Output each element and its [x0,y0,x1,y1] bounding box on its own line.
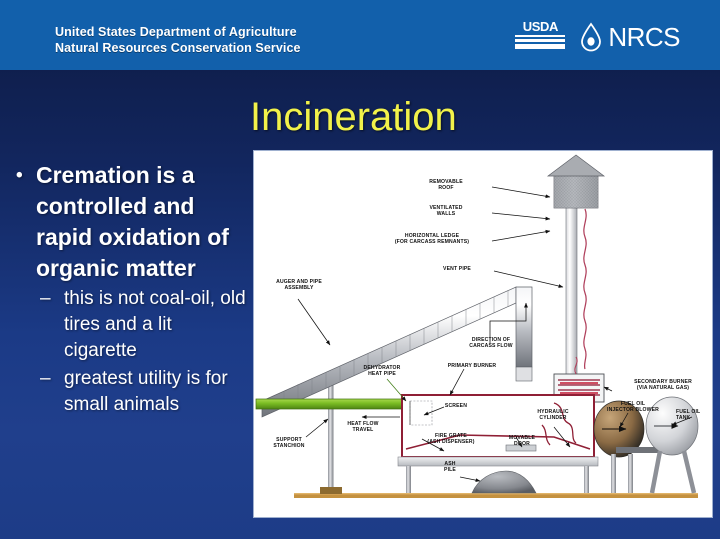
label-removable-roof: REMOVABLE ROOF [400,179,492,192]
usda-logo-icon: USDA [513,20,567,54]
nrcs-logo: NRCS [579,22,680,52]
usda-wordmark: USDA [513,20,567,33]
vent-pipe-stack [548,155,604,375]
agency-line-1: United States Department of Agriculture [55,24,301,40]
presentation-slide: United States Department of Agriculture … [0,0,720,539]
label-primary-burner: PRIMARY BURNER [430,363,514,369]
usda-logo-rules [515,35,565,51]
logo-block: USDA NRCS [513,20,680,54]
label-heat-flow-travel: HEAT FLOW TRAVEL [332,421,394,434]
bullet-list: • Cremation is a controlled and rapid ox… [8,160,246,418]
agency-name: United States Department of Agriculture … [55,24,301,56]
agency-line-2: Natural Resources Conservation Service [55,40,301,56]
label-ventilated-walls: VENTILATED WALLS [400,205,492,218]
bullet-marker-dash: – [40,286,51,312]
bullet-text: greatest utility is for small animals [64,368,228,415]
incinerator-diagram-panel: REMOVABLE ROOF VENTILATED WALLS HORIZONT… [253,150,713,518]
support-stanchion-post [328,375,334,493]
label-fuel-oil-injector-blower: FUEL OIL INJECTOR BLOWER [590,401,676,414]
chamber-leg [584,466,589,493]
label-direction-of-carcass-flow: DIRECTION OF CARCASS FLOW [450,337,532,350]
chamber-base [398,457,598,466]
label-hydraulic-cylinder: HYDRAULIC CYLINDER [522,409,584,422]
label-fire-grate: FIRE GRATE (ASH DISPENSER) [406,433,496,446]
label-support-stanchion: SUPPORT STANCHION [258,437,320,450]
nrcs-wordmark: NRCS [608,24,680,50]
label-movable-door: MOVABLE DOOR [494,435,550,448]
label-secondary-burner: SECONDARY BURNER (VIA NATURAL GAS) [614,379,712,392]
chamber-leg [406,466,411,493]
bullet-item-primary: • Cremation is a controlled and rapid ox… [8,160,246,284]
label-vent-pipe: VENT PIPE [422,266,492,272]
label-screen: SCREEN [432,403,480,409]
usda-header-bar: United States Department of Agriculture … [0,0,720,70]
ash-pile-mound [472,471,536,493]
bullet-marker-dot: • [16,160,23,191]
dehydrator-heat-pipe [256,399,402,409]
label-fuel-oil-tank: FUEL OIL TANK [676,409,713,422]
hot-gas-flow-line [584,209,586,369]
bullet-marker-dash: – [40,366,51,392]
bullet-item-sub-2: – greatest utility is for small animals [8,366,246,418]
label-ash-pile: ASH PILE [432,461,468,474]
water-drop-icon [579,22,603,52]
label-auger-and-pipe-assembly: AUGER AND PIPE ASSEMBLY [260,279,338,292]
page-title: Incineration [250,95,457,139]
bullet-text: Cremation is a controlled and rapid oxid… [36,162,229,281]
stanchion-base [320,487,342,494]
bullet-item-sub-1: – this is not coal-oil, old tires and a … [8,286,246,364]
label-horizontal-ledge: HORIZONTAL LEDGE (FOR CARCASS REMNANTS) [372,233,492,246]
bullet-text: this is not coal-oil, old tires and a li… [64,288,246,361]
label-dehydrator-heat-pipe: DEHYDRATOR HEAT PIPE [344,365,420,378]
